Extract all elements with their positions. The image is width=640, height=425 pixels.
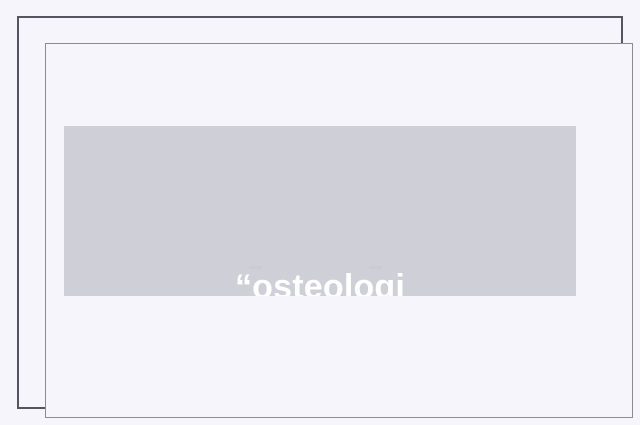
page-canvas: “osteologi cal” 的英英意思 xyxy=(0,0,640,425)
media-placeholder-block[interactable]: “osteologi cal” 的英英意思 xyxy=(64,126,576,296)
media-caption-line-1: “osteologi xyxy=(64,260,576,296)
media-caption: “osteologi cal” 的英英意思 xyxy=(64,150,576,296)
